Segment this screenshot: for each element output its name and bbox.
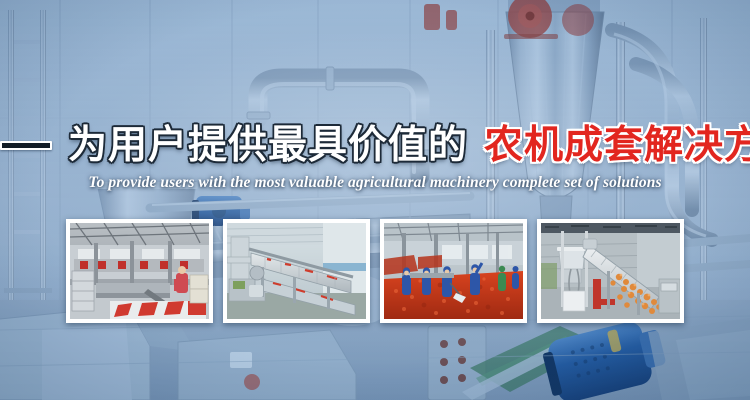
thumbnail-image-1 [70, 223, 209, 319]
headline: 为用户提供最具价值的农机成套解决方案 [0, 126, 750, 165]
thumbnail-factory-production-line[interactable] [66, 219, 213, 323]
thumbnail-image-3 [384, 223, 523, 319]
promo-banner: 为用户提供最具价值的农机成套解决方案 To provide users with… [0, 0, 750, 400]
dash-rule-left-icon [0, 141, 52, 150]
thumbnail-strip [66, 219, 684, 323]
thumbnail-image-4 [541, 223, 680, 319]
inclined-conveyor-illustration [227, 223, 366, 319]
headline-block: 为用户提供最具价值的农机成套解决方案 [0, 126, 750, 165]
workers-chili-illustration [384, 223, 523, 319]
thumbnail-image-2 [227, 223, 366, 319]
root-vegetable-conveyor-illustration [541, 223, 680, 319]
headline-text-white: 为用户提供最具价值的 [68, 126, 468, 165]
thumbnail-root-vegetable-conveyor[interactable] [537, 219, 684, 323]
factory-production-line-illustration [70, 223, 209, 319]
background-vignette [0, 0, 750, 400]
background-photo [0, 0, 750, 400]
headline-text-red: 农机成套解决方案 [484, 126, 750, 165]
subtitle-english: To provide users with the most valuable … [0, 174, 750, 192]
thumbnail-inclined-conveyor-belt[interactable] [223, 219, 370, 323]
thumbnail-workers-sorting-chili[interactable] [380, 219, 527, 323]
